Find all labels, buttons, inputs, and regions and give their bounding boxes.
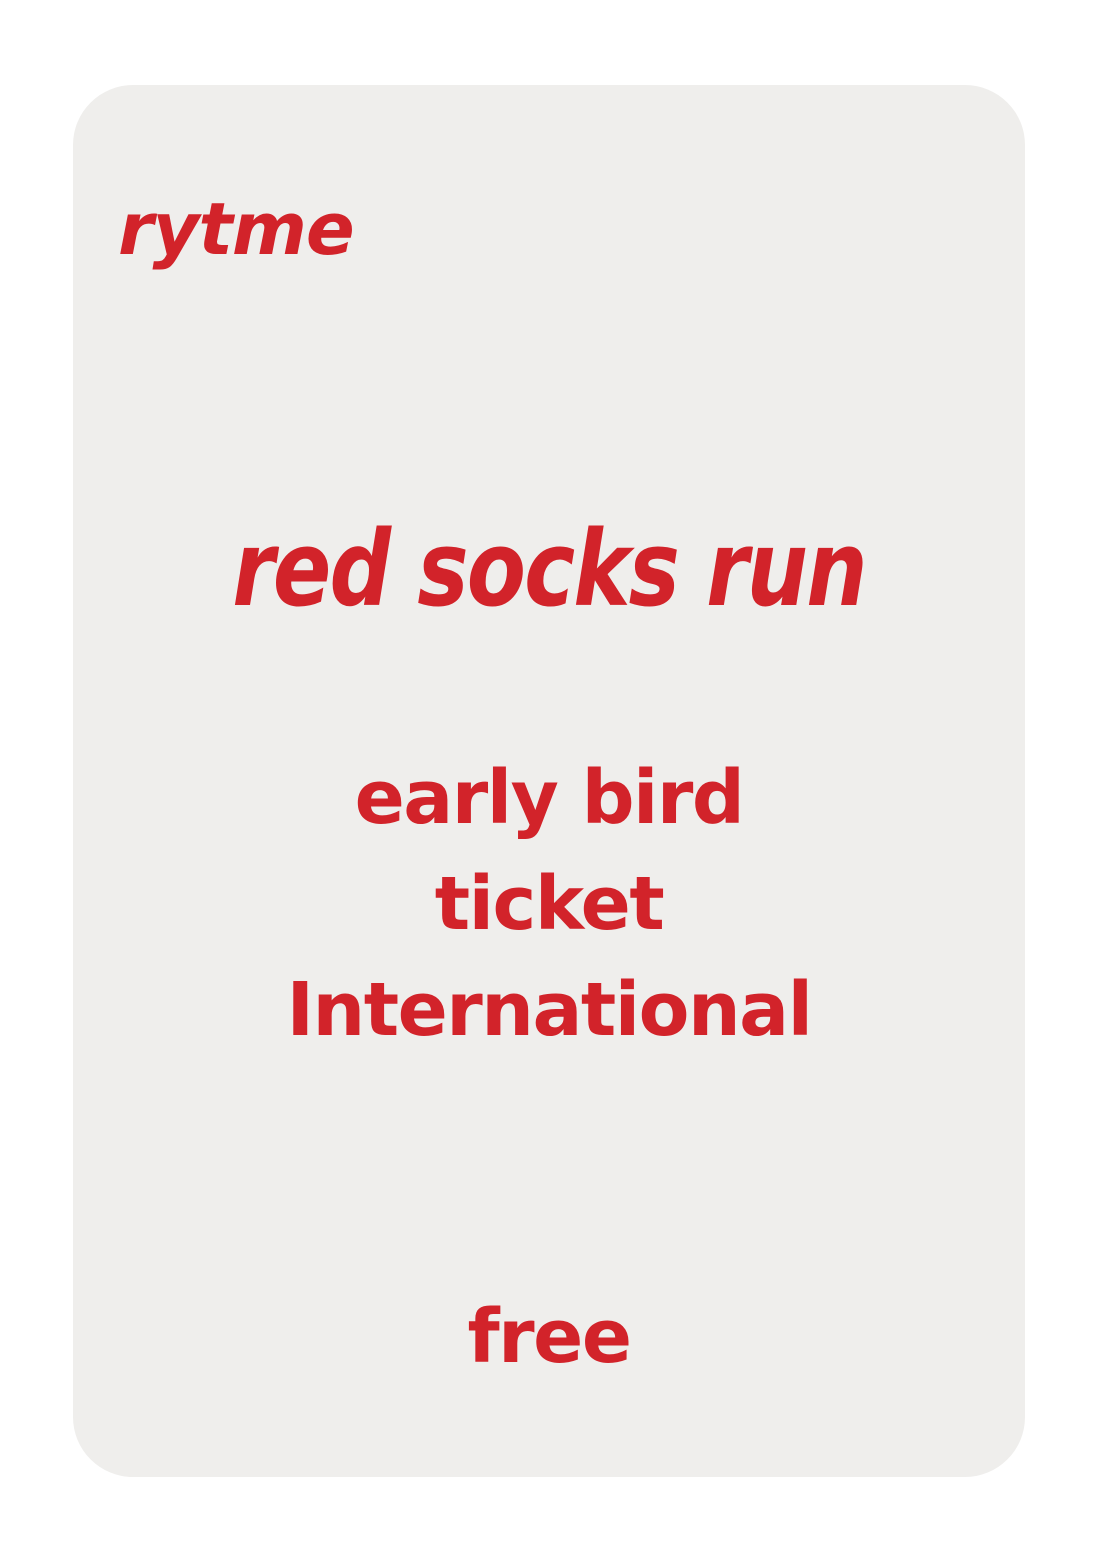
poster-stage: rytme red socks run early bird ticket In… (0, 0, 1100, 1558)
ticket-type-line-2: ticket (73, 851, 1025, 957)
ticket-type-line-1: early bird (73, 745, 1025, 851)
event-headline: red socks run (111, 517, 987, 621)
ticket-type-line-3: International (73, 957, 1025, 1063)
ticket-price: free (73, 1300, 1025, 1374)
brand-wordmark: rytme (118, 193, 354, 265)
ticket-type-block: early bird ticket International (73, 745, 1025, 1063)
ticket-card[interactable]: rytme red socks run early bird ticket In… (73, 85, 1025, 1477)
